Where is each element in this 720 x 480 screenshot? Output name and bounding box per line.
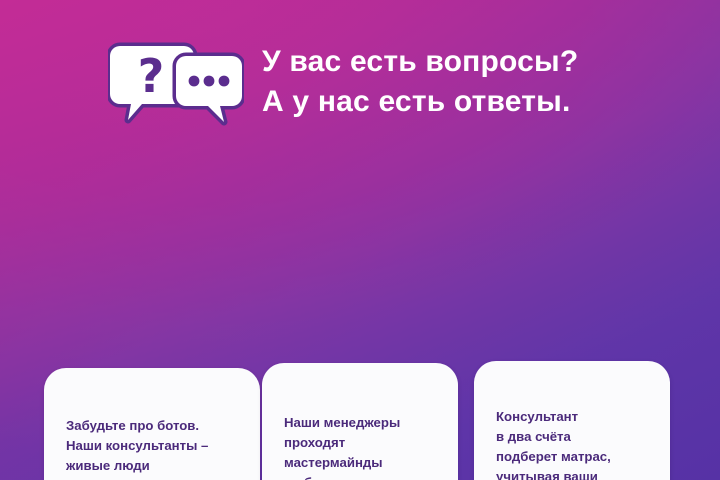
card-managers: Наши менеджеры проходят мастермайнды и о… [262, 363, 458, 480]
question-speech-bubbles-icon: ? [108, 40, 244, 126]
headline-line-2: А у нас есть ответы. [262, 82, 702, 122]
card-consultants: Забудьте про ботов. Наши консультанты – … [44, 368, 260, 480]
headline: У вас есть вопросы? А у нас есть ответы. [262, 42, 702, 122]
card-consultants-text: Забудьте про ботов. Наши консультанты – … [66, 416, 246, 480]
headline-line-1: У вас есть вопросы? [262, 45, 578, 78]
card-selection: Консультант в два счёта подберет матрас,… [474, 361, 670, 480]
card-selection-text: Консультант в два счёта подберет матрас,… [496, 407, 656, 480]
svg-text:?: ? [138, 49, 165, 103]
cards-row: Забудьте про ботов. Наши консультанты – … [0, 305, 720, 480]
header: ? У вас есть вопросы? А у нас есть ответ… [0, 0, 720, 150]
card-managers-text: Наши менеджеры проходят мастермайнды и о… [284, 413, 444, 480]
promo-slide: ? У вас есть вопросы? А у нас есть ответ… [0, 0, 720, 480]
